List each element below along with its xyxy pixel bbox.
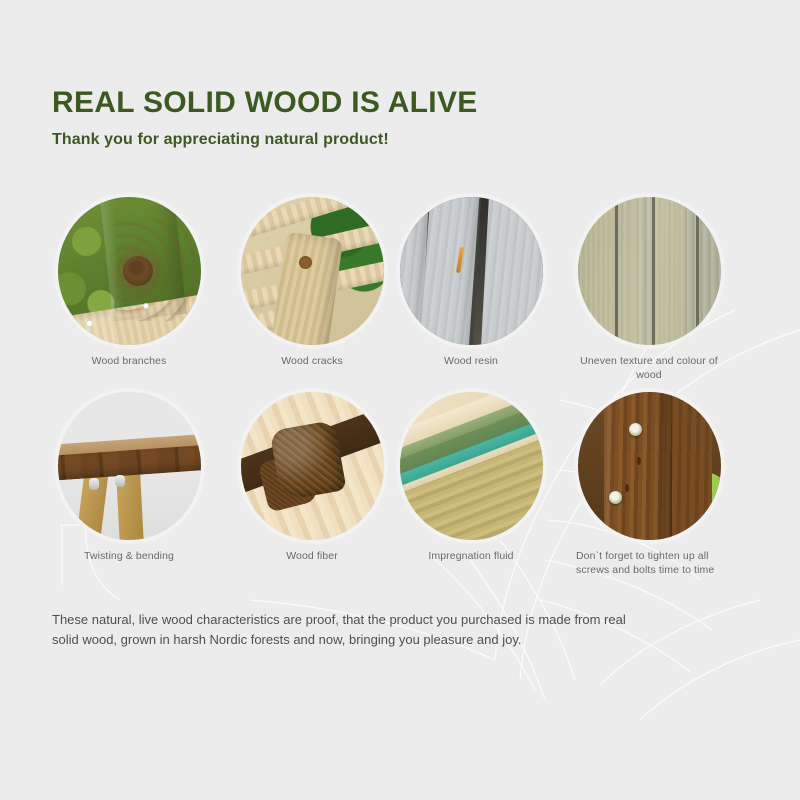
feature-item-wood-fiber[interactable]: Wood fiber <box>237 392 387 563</box>
feature-item-wood-resin[interactable]: Wood resin <box>396 197 546 368</box>
feature-image-uneven-texture <box>578 197 721 345</box>
feature-image-wood-cracks <box>241 197 384 345</box>
feature-item-twisting-bending[interactable]: Twisting & bending <box>54 392 204 563</box>
feature-caption: Wood fiber <box>237 540 387 563</box>
feature-image-twisting-bending <box>58 392 201 540</box>
feature-image-tighten-screws <box>578 392 721 540</box>
feature-item-tighten-screws[interactable]: Don`t forget to tighten up all screws an… <box>574 392 734 577</box>
feature-caption: Uneven texture and colour of wood <box>574 345 724 382</box>
feature-image-wood-fiber <box>241 392 384 540</box>
feature-caption: Twisting & bending <box>54 540 204 563</box>
page-title: REAL SOLID WOOD IS ALIVE <box>52 86 478 119</box>
feature-item-wood-cracks[interactable]: Wood cracks <box>237 197 387 368</box>
feature-item-impregnation-fluid[interactable]: Impregnation fluid <box>396 392 546 563</box>
infographic-page: REAL SOLID WOOD IS ALIVE Thank you for a… <box>0 0 800 800</box>
feature-caption: Wood cracks <box>237 345 387 368</box>
feature-image-wood-branches <box>58 197 201 345</box>
header: REAL SOLID WOOD IS ALIVE Thank you for a… <box>52 86 478 149</box>
page-subtitle: Thank you for appreciating natural produ… <box>52 119 478 149</box>
feature-image-impregnation-fluid <box>400 392 543 540</box>
feature-caption: Wood branches <box>54 345 204 368</box>
feature-image-wood-resin <box>400 197 543 345</box>
feature-item-uneven-texture[interactable]: Uneven texture and colour of wood <box>574 197 724 382</box>
footer-paragraph: These natural, live wood characteristics… <box>52 610 642 650</box>
feature-caption: Wood resin <box>396 345 546 368</box>
feature-caption: Impregnation fluid <box>396 540 546 563</box>
feature-caption: Don`t forget to tighten up all screws an… <box>574 540 728 577</box>
feature-item-wood-branches[interactable]: Wood branches <box>54 197 204 368</box>
